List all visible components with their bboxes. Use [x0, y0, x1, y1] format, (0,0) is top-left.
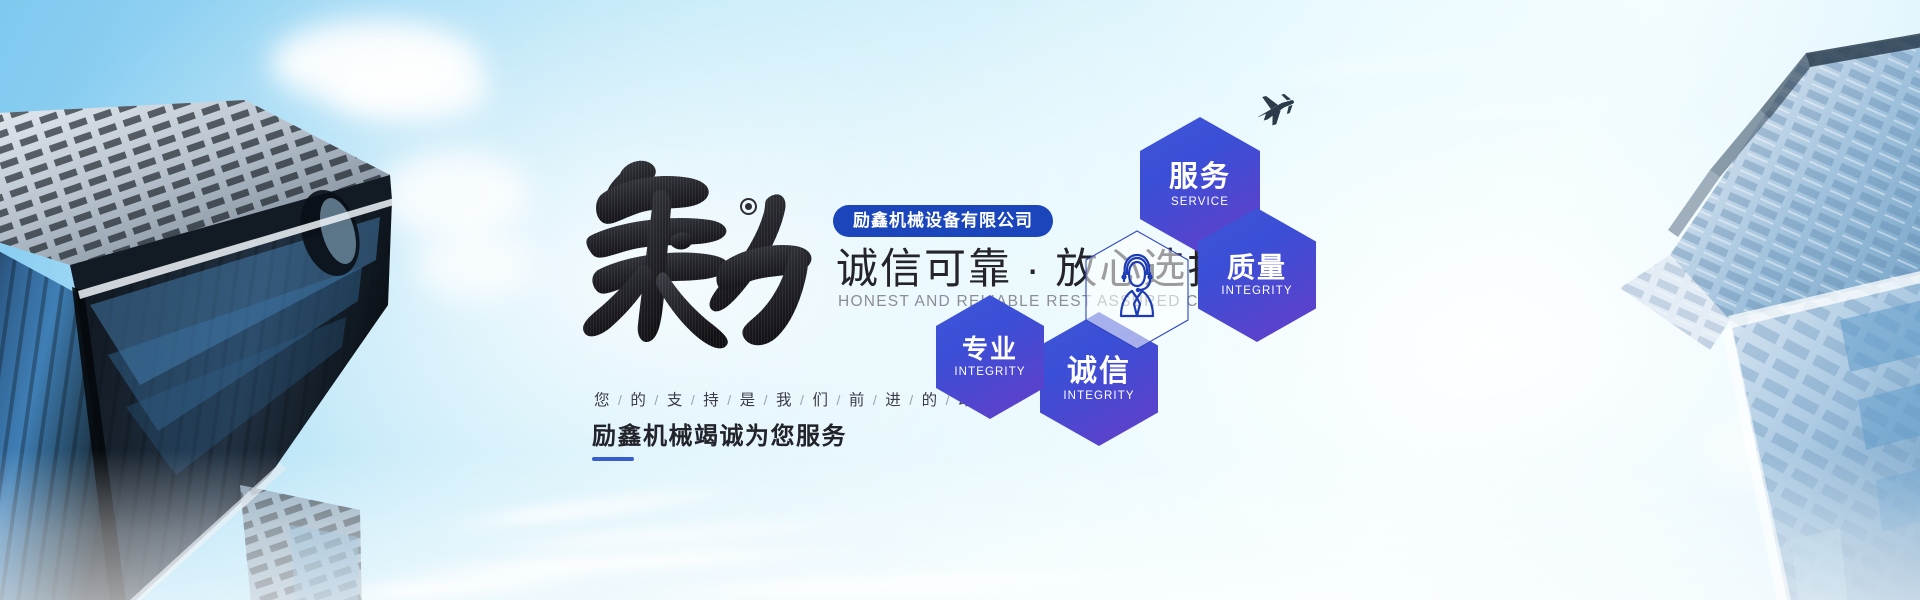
slogan-char: 持	[703, 392, 719, 409]
hexagon-quality-en: INTEGRITY	[1221, 285, 1292, 297]
slogan-char: 们	[812, 392, 828, 409]
calligraphy-title-icon	[572, 150, 822, 350]
slogan-char: 的	[922, 392, 938, 409]
hexagon-service-en: SERVICE	[1171, 196, 1229, 208]
hexagon-integrity-cn: 诚信	[1067, 356, 1131, 388]
hexagon-profession-en: INTEGRITY	[954, 366, 1025, 378]
hexagon-operator-outline[interactable]	[1085, 230, 1189, 350]
slogan-separator: /	[691, 392, 695, 408]
banner-content: 励鑫机械设备有限公司 诚信可靠 · 放心选择 HONEST AND RELIAB…	[0, 0, 1920, 600]
slogan-separator: /	[836, 392, 840, 408]
hexagon-service-cn: 服务	[1169, 162, 1231, 192]
slogan-char: 的	[630, 392, 646, 409]
slogan-char: 您	[594, 392, 610, 409]
slogan-separator: /	[764, 392, 768, 408]
company-badge: 励鑫机械设备有限公司	[833, 205, 1053, 237]
ring-dot-ornament	[740, 198, 757, 215]
tagline-english: HONEST AND RELIABLE REST ASSURED CHOICE	[838, 293, 1254, 311]
slogan-separator: /	[654, 392, 658, 408]
hero-banner: 励鑫机械设备有限公司 诚信可靠 · 放心选择 HONEST AND RELIAB…	[0, 0, 1920, 600]
accent-rule	[592, 457, 634, 461]
slogan-separator: /	[909, 392, 913, 408]
hexagon-profession-cn: 专业	[962, 336, 1018, 363]
slogan-char: 前	[849, 392, 865, 409]
slogan-separator: /	[873, 392, 877, 408]
headset-operator-icon	[1085, 230, 1189, 350]
slogan-char: 支	[667, 392, 683, 409]
hexagon-integrity-en: INTEGRITY	[1063, 390, 1134, 402]
airplane-icon	[1253, 92, 1297, 126]
hexagon-quality-cn: 质量	[1227, 253, 1287, 282]
slogan-char: 进	[885, 392, 901, 409]
slogan-separator: /	[618, 392, 622, 408]
slogan-separator: /	[727, 392, 731, 408]
slogan-main: 励鑫机械竭诚为您服务	[592, 416, 847, 451]
slogan-separator: /	[800, 392, 804, 408]
slogan-char: 是	[740, 392, 756, 409]
slogan-char: 我	[776, 392, 792, 409]
